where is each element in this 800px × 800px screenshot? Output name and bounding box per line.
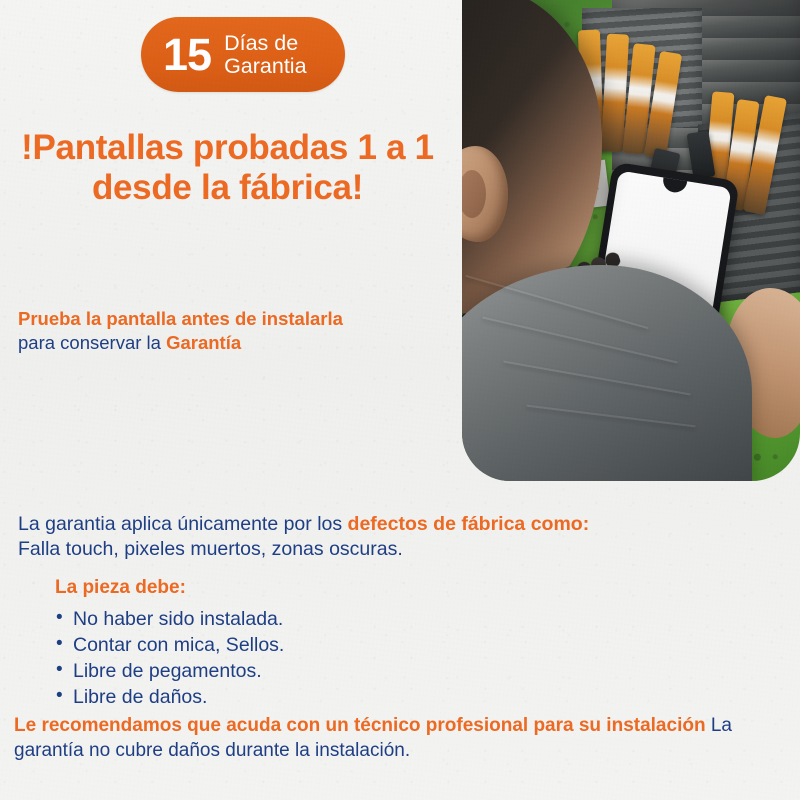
installation-recommendation: Le recomendamos que acuda con un técnico… [14,714,789,763]
badge-label-line2: Garantia [224,54,306,78]
warranty-line1-plain: La garantia aplica únicamente por los [18,513,348,535]
subheadline: Prueba la pantalla antes de instalarla p… [18,308,458,354]
list-item: No haber sido instalada. [56,606,284,632]
badge-label-line1: Días de [224,31,298,55]
badge-number: 15 [163,32,211,77]
list-item: Libre de pegamentos. [56,658,284,684]
badge-label: Días de Garantia [224,32,306,78]
warranty-line1-emphasis: defectos de fábrica como: [348,513,590,535]
subheadline-line1: Prueba la pantalla antes de instalarla [18,308,458,330]
technician-testing-screen-photo [462,0,800,481]
list-item: Libre de daños. [56,684,284,710]
conditions-title: La pieza debe: [55,577,186,599]
subheadline-warranty-word: Garantía [166,332,241,353]
conditions-list: No haber sido instalada. Contar con mica… [56,606,284,711]
subheadline-line2-plain: para conservar la [18,332,166,353]
subheadline-line2: para conservar la Garantía [18,332,458,354]
warranty-line2: Falla touch, pixeles muertos, zonas oscu… [18,538,403,560]
recommendation-emphasis: Le recomendamos que acuda con un técnico… [14,715,706,736]
page-headline: !Pantallas probadas 1 a 1 desde la fábri… [0,128,455,208]
warranty-days-badge: 15 Días de Garantia [141,17,345,92]
promo-banner: 15 Días de Garantia [0,0,800,800]
warranty-coverage-text: La garantia aplica únicamente por los de… [18,512,788,563]
photo-scene [462,0,800,481]
list-item: Contar con mica, Sellos. [56,632,284,658]
